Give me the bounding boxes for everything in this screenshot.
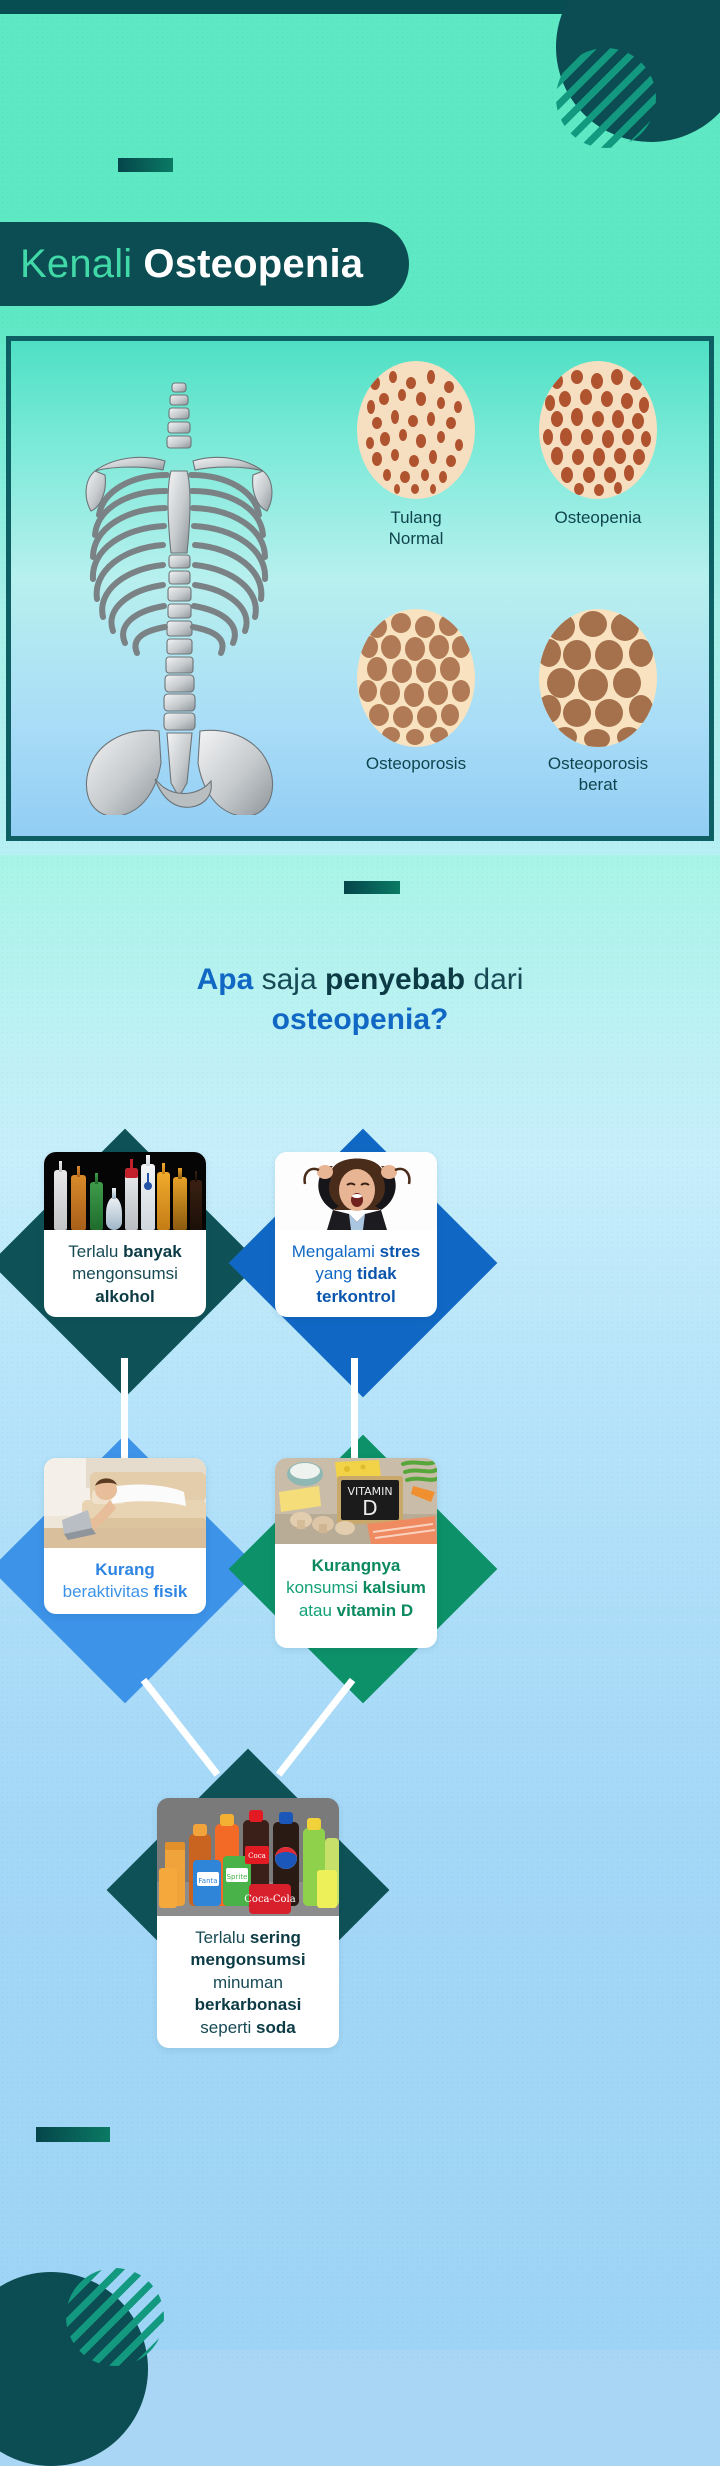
svg-text:Coca-Cola: Coca-Cola — [244, 1894, 295, 1905]
caption-seg-bold: banyak — [123, 1242, 182, 1261]
decor-circle-striped-top-right — [556, 48, 656, 148]
bone-density-item: Tulang Normal — [331, 361, 501, 549]
question-word-dari: dari — [473, 963, 523, 996]
question-line-1: Apa saja penyebab dari — [0, 960, 720, 1000]
question-word-penyebab: penyebab — [325, 963, 465, 996]
caption-seg: yang — [315, 1264, 357, 1283]
caption-seg-bold: Kurangnya — [312, 1556, 401, 1575]
bone-label-line1: Osteoporosis — [548, 754, 648, 773]
bone-density-item: Osteopenia — [513, 361, 683, 529]
caption-seg-bold: kalsium — [363, 1578, 426, 1597]
caption-seg: Terlalu — [195, 1928, 250, 1947]
cause-card-soda[interactable]: Fanta Sprite Coca Coca-Cola Terlalu seri… — [157, 1798, 339, 2048]
skeleton-illustration — [59, 375, 299, 815]
caption-seg-bold: berkarbonasi — [195, 1995, 302, 2014]
caption-seg-bold: vitamin D — [337, 1601, 414, 1620]
bone-density-grid: Tulang Normal — [331, 361, 701, 831]
question-line-2: osteopenia? — [0, 1000, 720, 1040]
question-word-osteopenia: osteopenia? — [272, 1003, 449, 1036]
question-word-saja: saja — [262, 963, 317, 996]
cause-card-caption: Terlalu banyak mengonsumsi alkohol — [44, 1230, 206, 1317]
caption-seg: mengonsumsi — [72, 1264, 178, 1283]
man-lying-on-sofa-photo — [44, 1458, 206, 1548]
cause-card-caption: Mengalami stres yang tidak terkontrol — [275, 1230, 437, 1317]
cause-card-caption: Kurangnya konsumsi kalsium atau vitamin … — [275, 1544, 437, 1636]
bone-density-item: Osteoporosis — [331, 609, 501, 775]
bone-label-line1: Tulang — [390, 508, 441, 527]
bone-density-label: Osteoporosis — [331, 754, 501, 775]
alcohol-bottles-photo — [44, 1152, 206, 1230]
stressed-woman-photo — [275, 1152, 437, 1230]
bone-texture-osteoporosis — [357, 609, 475, 747]
cause-card-stres[interactable]: Mengalami stres yang tidak terkontrol — [275, 1152, 437, 1317]
page-title-banner: Kenali Osteopenia — [0, 222, 409, 306]
svg-text:Fanta: Fanta — [198, 1877, 217, 1885]
caption-seg-bold: soda — [256, 2018, 296, 2037]
question-word-apa: Apa — [197, 963, 254, 996]
decor-circle-striped-bottom-left — [66, 2268, 164, 2366]
bone-density-label: Tulang Normal — [331, 508, 501, 549]
bone-density-panel: Tulang Normal — [6, 336, 714, 841]
caption-seg-bold: Kurang — [95, 1560, 155, 1579]
bone-density-label: Osteoporosis berat — [513, 754, 683, 795]
caption-seg: beraktivitas — [63, 1582, 154, 1601]
svg-text:Sprite: Sprite — [227, 1873, 248, 1881]
bone-label-line1: Osteoporosis — [366, 754, 466, 773]
bone-label-line2: Normal — [389, 529, 444, 548]
decor-bar-top — [118, 158, 173, 172]
chalkboard-text-d: D — [362, 1496, 377, 1520]
caption-seg-bold: alkohol — [95, 1287, 155, 1306]
decor-bar-mid — [344, 881, 400, 894]
caption-seg: minuman — [213, 1973, 283, 1992]
bone-density-label: Osteopenia — [513, 508, 683, 529]
cause-card-aktivitas[interactable]: Kurang beraktivitas fisik — [44, 1458, 206, 1614]
bone-texture-normal — [357, 361, 475, 499]
bone-density-item: Osteoporosis berat — [513, 609, 683, 795]
bone-label-line1: Osteopenia — [555, 508, 642, 527]
cause-card-caption: Terlalu sering mengonsumsi minuman berka… — [157, 1916, 339, 2048]
caption-seg-bold: stres — [380, 1242, 421, 1261]
soda-bottles-photo: Fanta Sprite Coca Coca-Cola — [157, 1798, 339, 1916]
bone-label-line2: berat — [579, 775, 618, 794]
bone-texture-osteopenia — [539, 361, 657, 499]
caption-seg: seperti — [200, 2018, 256, 2037]
decor-bar-bottom — [36, 2127, 110, 2142]
cause-card-caption: Kurang beraktivitas fisik — [44, 1548, 206, 1614]
caption-seg: konsumsi — [286, 1578, 363, 1597]
page-title-bold: Osteopenia — [143, 242, 363, 287]
vitamin-d-foods-photo: VITAMIN D — [275, 1458, 437, 1544]
svg-text:Coca: Coca — [248, 1852, 266, 1860]
caption-seg: Mengalami — [292, 1242, 380, 1261]
question-heading: Apa saja penyebab dari osteopenia? — [0, 960, 720, 1040]
caption-seg: atau — [299, 1601, 337, 1620]
caption-seg: Terlalu — [68, 1242, 123, 1261]
cause-card-kalsium[interactable]: VITAMIN D Kurangnya konsumsi kal — [275, 1458, 437, 1648]
page-title-light: Kenali — [20, 242, 132, 287]
cause-card-alkohol[interactable]: Terlalu banyak mengonsumsi alkohol — [44, 1152, 206, 1317]
bone-texture-osteoporosis-berat — [539, 609, 657, 747]
caption-seg-bold: fisik — [153, 1582, 187, 1601]
